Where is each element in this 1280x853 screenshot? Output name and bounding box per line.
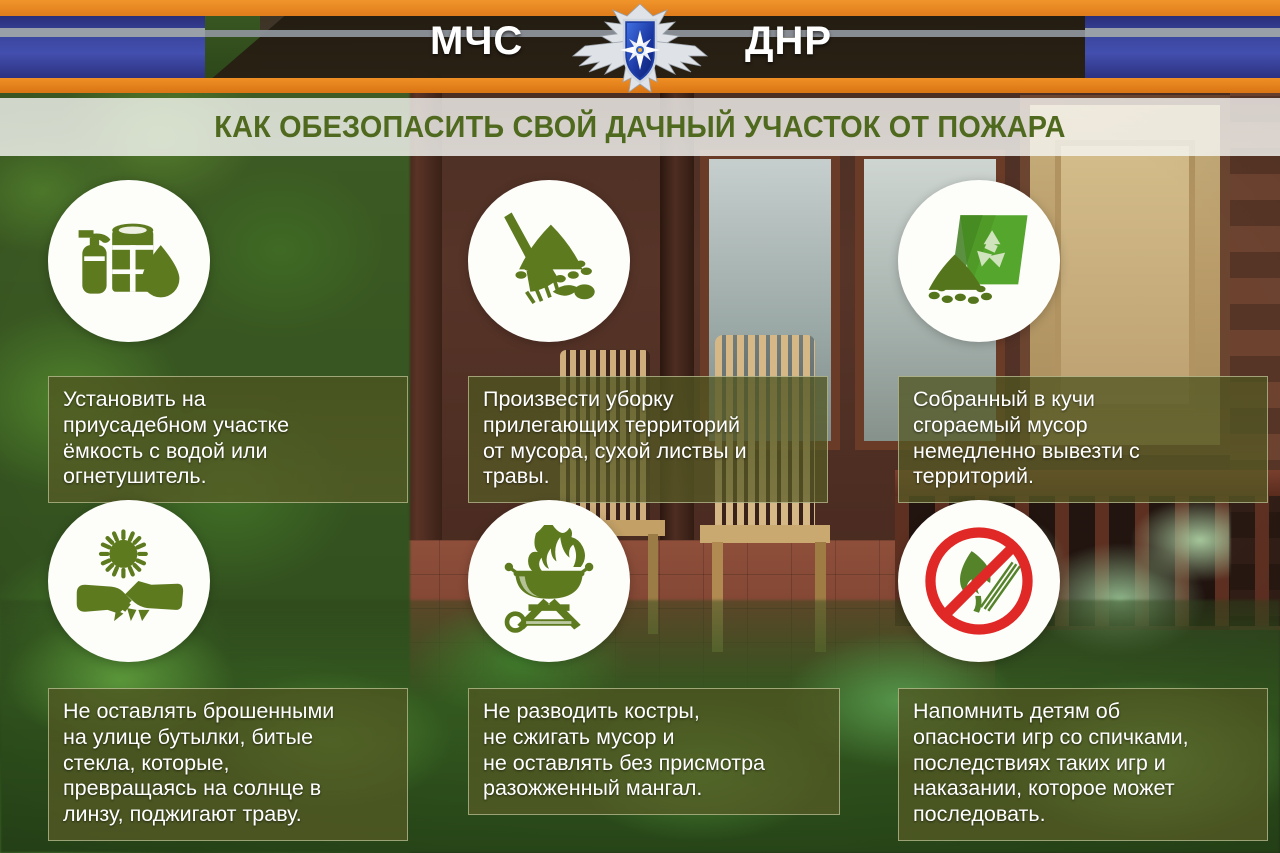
- tip-text-4: Не оставлять брошенными на улице бутылки…: [48, 688, 408, 841]
- broom-sweeping-leaves-icon: [468, 180, 630, 342]
- mchs-eagle-emblem-icon: [565, 0, 715, 96]
- header-label-dnr: ДНР: [745, 10, 832, 72]
- header-blue-band-left: [0, 16, 205, 78]
- fire-extinguisher-water-barrel-icon: [48, 180, 210, 342]
- header-gray-stripe-left: [0, 28, 205, 37]
- no-open-fire-prohibition-icon: [898, 500, 1060, 662]
- tip-text-3: Собранный в кучи сгораемый мусор немедле…: [898, 376, 1268, 503]
- tip-text-5: Не разводить костры, не сжигать мусор и …: [468, 688, 840, 815]
- bbq-grill-flames-icon: [468, 500, 630, 662]
- header-label-mchs: МЧС: [430, 10, 523, 72]
- header-blue-band-right: [1085, 16, 1280, 78]
- tip-text-6: Напомнить детям об опасности игр со спич…: [898, 688, 1268, 841]
- page-title: КАК ОБЕЗОПАСИТЬ СВОЙ ДАЧНЫЙ УЧАСТОК ОТ П…: [45, 100, 1235, 154]
- tip-text-1: Установить на приусадебном участке ёмкос…: [48, 376, 408, 503]
- tips-grid: Установить на приусадебном участке ёмкос…: [0, 156, 1280, 853]
- header-banner: МЧС: [0, 0, 1280, 93]
- header-gray-stripe-right: [1085, 28, 1280, 37]
- infographic-poster: МЧС: [0, 0, 1280, 853]
- tip-text-2: Произвести уборку прилегающих территорий…: [468, 376, 828, 503]
- recycling-bin-debris-icon: [898, 180, 1060, 342]
- sun-broken-bottles-icon: [48, 500, 210, 662]
